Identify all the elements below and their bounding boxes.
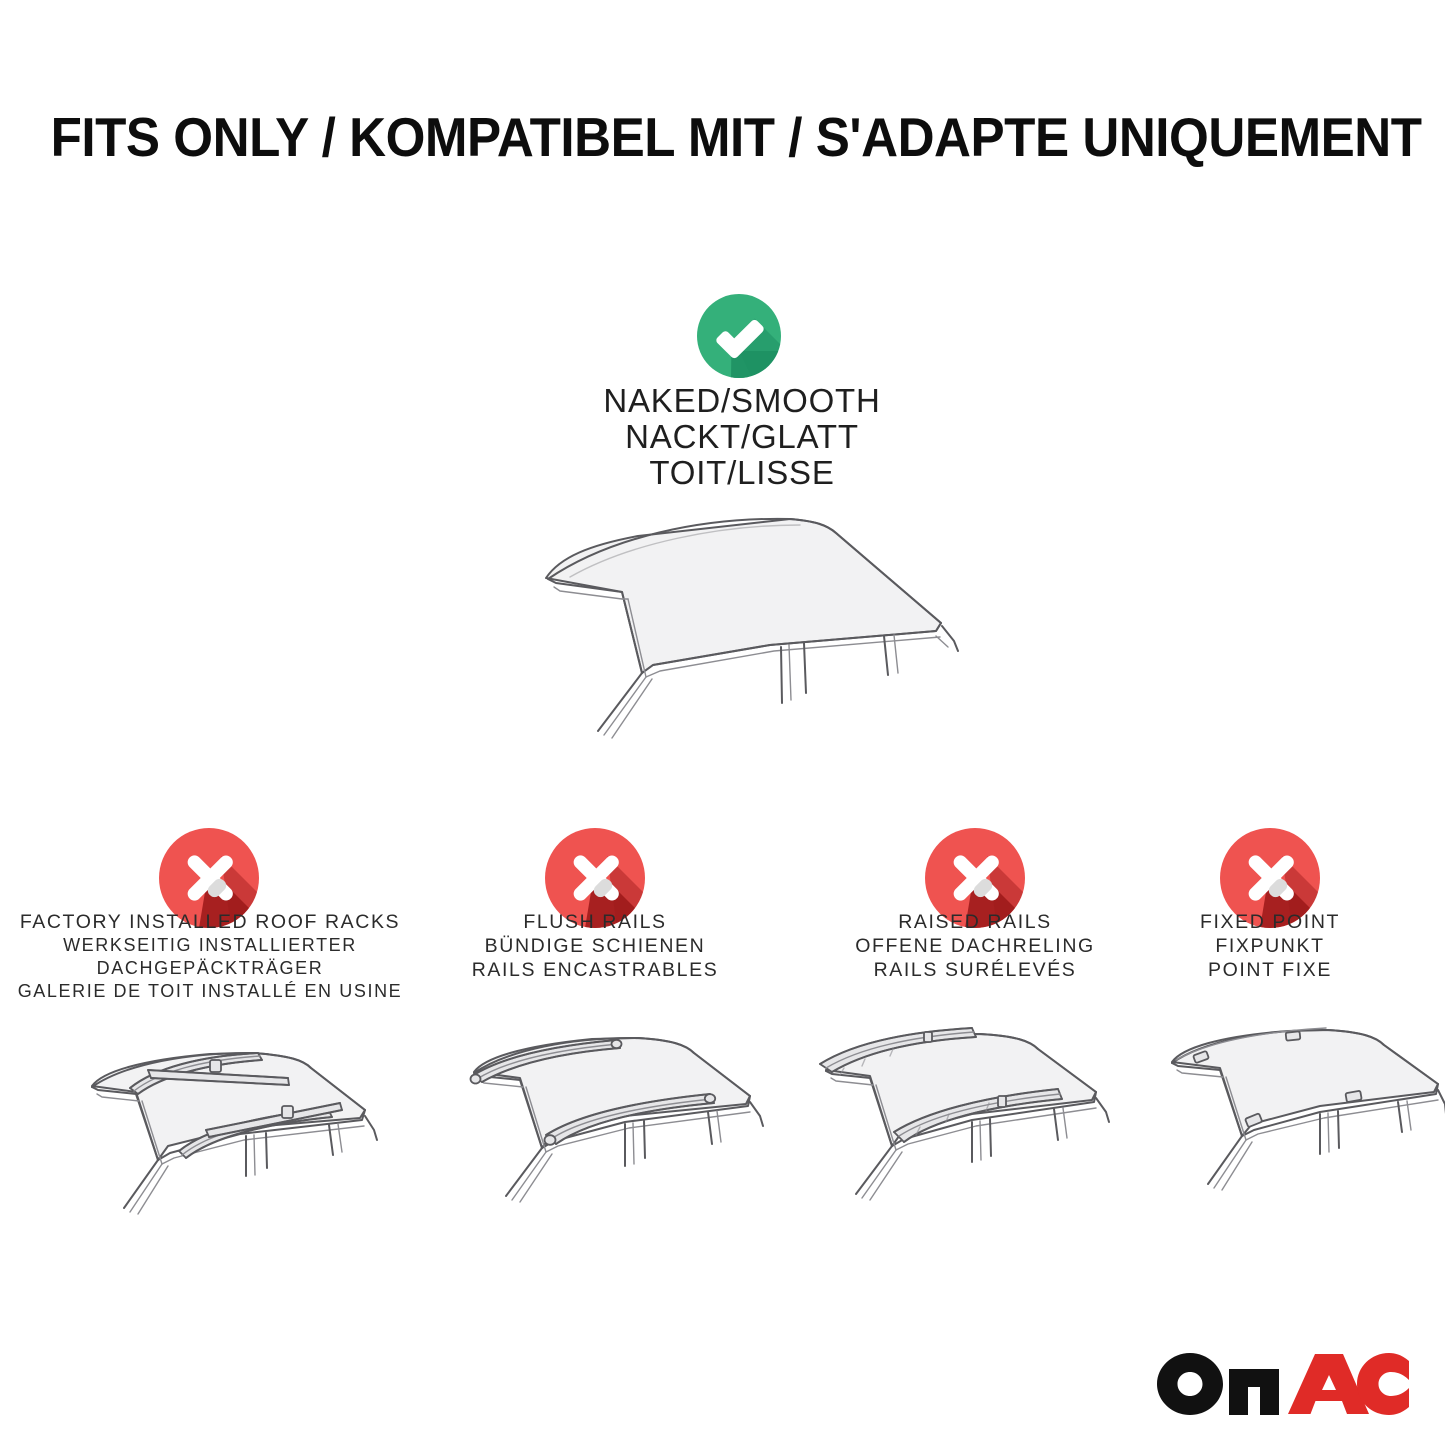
car-roof-raised-rails-illustration — [790, 1020, 1160, 1240]
fixed-point-caption: FIXED POINT FIXPUNKT POINT FIXE — [1120, 910, 1420, 982]
car-roof-flush-rails-illustration — [420, 1020, 790, 1240]
caption-line-en: FIXED POINT — [1120, 910, 1420, 934]
car-roof-fixed-point-illustration — [1150, 1020, 1445, 1240]
caption-line-de-2: DACHGEPÄCKTRÄGER — [10, 957, 410, 980]
caption-line-en: NAKED/SMOOTH — [472, 383, 1012, 419]
caption-line-de: NACKT/GLATT — [472, 419, 1012, 455]
compatibility-infographic: FITS ONLY / KOMPATIBEL MIT / S'ADAPTE UN… — [0, 0, 1445, 1445]
check-circle-icon — [697, 294, 781, 378]
page-title: FITS ONLY / KOMPATIBEL MIT / S'ADAPTE UN… — [51, 108, 1395, 166]
caption-line-en: FACTORY INSTALLED ROOF RACKS — [10, 910, 410, 934]
car-roof-naked-smooth-illustration — [470, 495, 1010, 745]
caption-line-fr: POINT FIXE — [1120, 958, 1420, 982]
check-glyph — [697, 294, 781, 378]
factory-roof-racks-caption: FACTORY INSTALLED ROOF RACKS WERKSEITIG … — [10, 910, 410, 1003]
caption-line-fr: GALERIE DE TOIT INSTALLÉ EN USINE — [10, 980, 410, 1003]
flush-rails-caption: FLUSH RAILS BÜNDIGE SCHIENEN RAILS ENCAS… — [420, 910, 770, 982]
caption-line-en: RAISED RAILS — [800, 910, 1150, 934]
caption-line-en: FLUSH RAILS — [420, 910, 770, 934]
naked-smooth-caption: NAKED/SMOOTH NACKT/GLATT TOIT/LISSE — [472, 383, 1012, 491]
car-roof-factory-roof-racks-illustration — [40, 1020, 410, 1240]
caption-line-de: OFFENE DACHRELING — [800, 934, 1150, 958]
raised-rails-caption: RAISED RAILS OFFENE DACHRELING RAILS SUR… — [800, 910, 1150, 982]
caption-line-de-1: WERKSEITIG INSTALLIERTER — [10, 934, 410, 957]
caption-line-de: FIXPUNKT — [1120, 934, 1420, 958]
caption-line-fr: RAILS ENCASTRABLES — [420, 958, 770, 982]
omac-logo — [1157, 1353, 1409, 1415]
omac-logo-glyph — [1157, 1353, 1409, 1415]
caption-line-fr: TOIT/LISSE — [472, 455, 1012, 491]
caption-line-de: BÜNDIGE SCHIENEN — [420, 934, 770, 958]
caption-line-fr: RAILS SURÉLEVÉS — [800, 958, 1150, 982]
